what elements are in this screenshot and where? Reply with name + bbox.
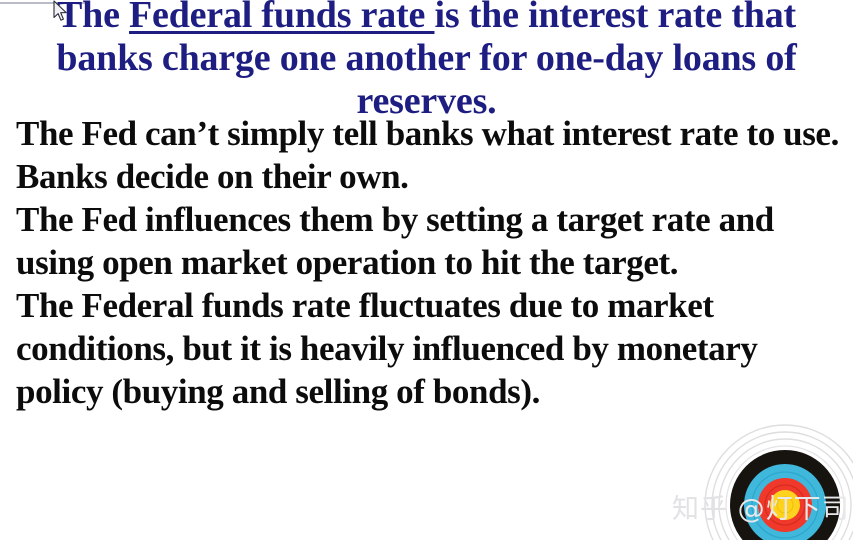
body-text-block: The Fed can’t simply tell banks what int… <box>16 112 848 413</box>
body-paragraph: The Fed can’t simply tell banks what int… <box>16 112 848 198</box>
body-paragraph: The Fed influences them by setting a tar… <box>16 198 848 284</box>
page-title: The Federal funds rate is the interest r… <box>10 0 843 123</box>
archery-target-icon <box>703 423 853 540</box>
headline-key-term: Federal funds rate <box>129 0 434 36</box>
headline-prefix: The <box>57 0 129 36</box>
slide-canvas: The Federal funds rate is the interest r… <box>0 0 853 540</box>
body-paragraph: The Federal funds rate fluctuates due to… <box>16 284 848 413</box>
